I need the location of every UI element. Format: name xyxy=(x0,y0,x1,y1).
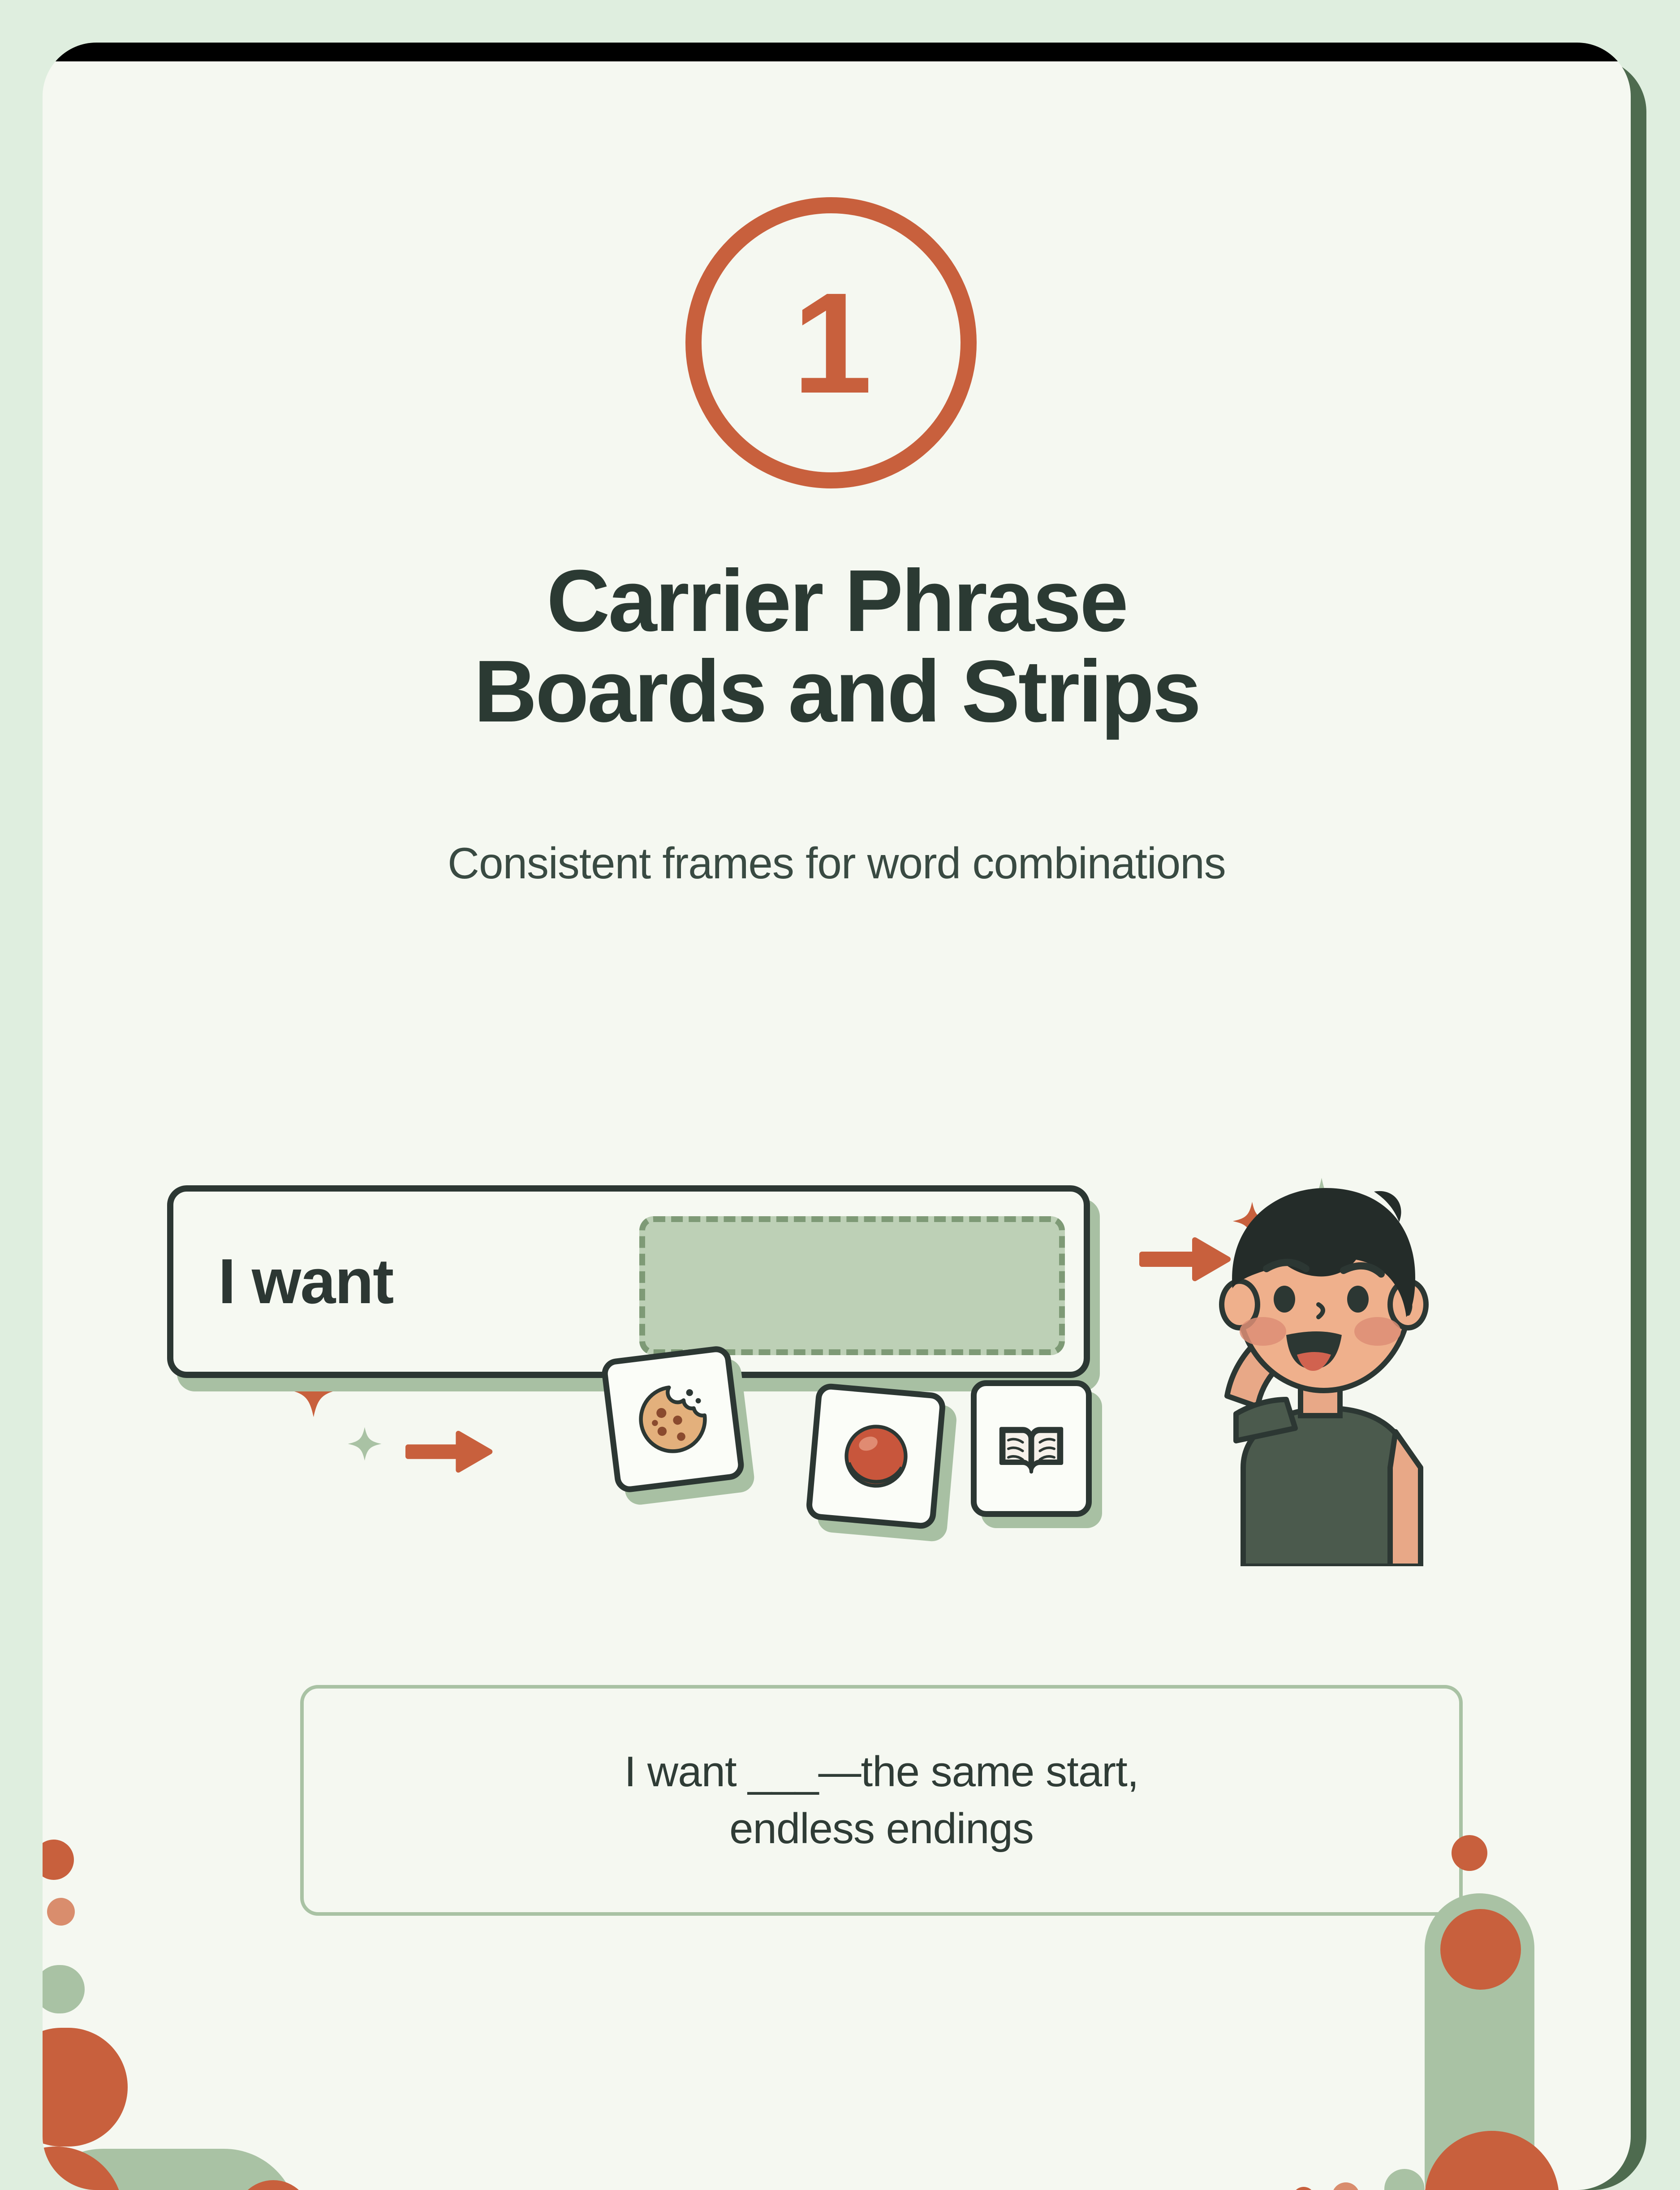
sparkle-icon xyxy=(347,1426,382,1461)
decorative-dot xyxy=(43,2028,128,2147)
decorative-dot xyxy=(47,1898,75,1926)
caption-text: I want ___—the same start, endless endin… xyxy=(584,1744,1179,1857)
page-title-line-1: Carrier Phrase xyxy=(43,556,1631,646)
caption-line-2: endless endings xyxy=(625,1801,1139,1857)
page-subtitle: Consistent frames for word combinations xyxy=(43,838,1631,889)
picture-card-ball[interactable] xyxy=(805,1382,946,1530)
empty-word-slot[interactable] xyxy=(639,1216,1065,1355)
page-title: Carrier Phrase Boards and Strips xyxy=(43,556,1631,737)
decorative-dot xyxy=(43,1965,85,2013)
decorative-dot xyxy=(43,1840,74,1880)
picture-card-book[interactable] xyxy=(971,1380,1092,1517)
slide-card: 1 Carrier Phrase Boards and Strips Consi… xyxy=(43,43,1631,2190)
cookie-icon xyxy=(630,1377,715,1461)
picture-card-cookie[interactable] xyxy=(600,1344,745,1494)
decorative-dot xyxy=(1292,2187,1315,2190)
caption-line-1: I want ___—the same start, xyxy=(625,1744,1139,1801)
illustration-area: I want xyxy=(43,1051,1631,1589)
ball-icon xyxy=(836,1416,916,1496)
book-icon xyxy=(995,1413,1067,1485)
carrier-phrase-text: I want xyxy=(218,1245,393,1318)
step-number-badge: 1 xyxy=(685,197,977,488)
page-title-line-2: Boards and Strips xyxy=(43,646,1631,737)
carrier-phrase-board[interactable]: I want xyxy=(167,1185,1090,1378)
boy-pointing-illustration xyxy=(1180,1172,1476,1566)
step-number-label: 1 xyxy=(793,271,870,415)
card-top-bar xyxy=(43,43,1631,61)
decorative-dot xyxy=(1332,2182,1360,2190)
decorative-dot xyxy=(1452,1835,1487,1871)
caption-box: I want ___—the same start, endless endin… xyxy=(300,1685,1463,1916)
decorative-dot xyxy=(1384,2169,1425,2190)
decorative-dot xyxy=(1440,1909,1521,1990)
arrow-right-icon xyxy=(405,1428,495,1475)
